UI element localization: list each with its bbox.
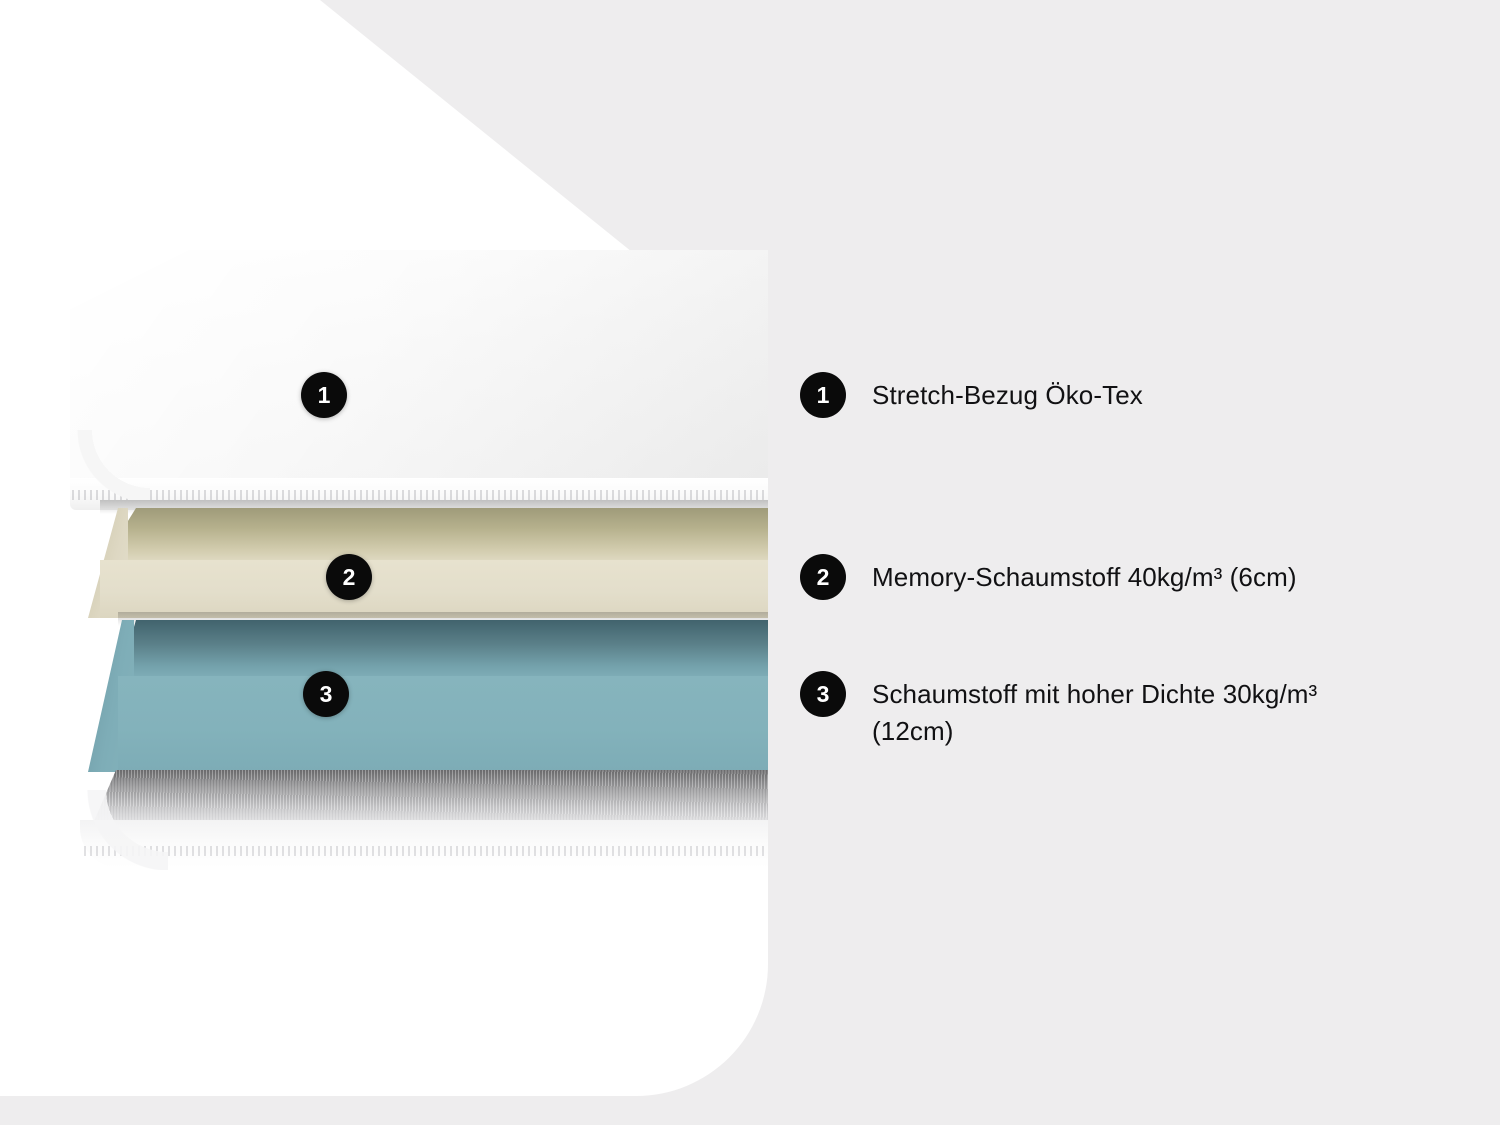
layer-badge-2[interactable]: 2 bbox=[326, 554, 372, 600]
memory-foam-layer-front-face bbox=[100, 560, 768, 618]
high-density-foam-layer-front-face bbox=[118, 676, 768, 772]
high-density-foam-layer-top-surface bbox=[118, 620, 768, 682]
legend-label-2: Memory-Schaumstoff 40kg/m³ (6cm) bbox=[872, 554, 1297, 596]
base-fabric-layer-weave bbox=[92, 770, 768, 826]
legend-label-1: Stretch-Bezug Öko-Tex bbox=[872, 372, 1143, 414]
cover-layer-corner bbox=[70, 430, 150, 510]
legend: 1 Stretch-Bezug Öko-Tex 2 Memory-Schaums… bbox=[800, 0, 1420, 1125]
cover-layer-stitching bbox=[72, 490, 768, 500]
legend-badge-2: 2 bbox=[800, 554, 846, 600]
base-fabric-layer-stitching bbox=[84, 846, 768, 856]
mattress-layer-stack: 1 2 3 bbox=[0, 0, 768, 1125]
base-fabric-layer-front-face bbox=[80, 820, 768, 868]
legend-item-2[interactable]: 2 Memory-Schaumstoff 40kg/m³ (6cm) bbox=[800, 554, 1297, 600]
legend-badge-1: 1 bbox=[800, 372, 846, 418]
legend-badge-3: 3 bbox=[800, 671, 846, 717]
layer-badge-3[interactable]: 3 bbox=[303, 671, 349, 717]
legend-item-3[interactable]: 3 Schaumstoff mit hoher Dichte 30kg/m³ (… bbox=[800, 671, 1372, 750]
legend-item-1[interactable]: 1 Stretch-Bezug Öko-Tex bbox=[800, 372, 1143, 418]
legend-label-3: Schaumstoff mit hoher Dichte 30kg/m³ (12… bbox=[872, 671, 1372, 750]
cover-layer-top-surface bbox=[70, 250, 768, 495]
layer-badge-1[interactable]: 1 bbox=[301, 372, 347, 418]
base-fabric-layer-corner bbox=[78, 790, 168, 870]
diagram-canvas: 1 2 3 1 Stretch-Bezug Öko-Tex 2 Memory-S… bbox=[0, 0, 1500, 1125]
memory-foam-layer-top-surface bbox=[100, 508, 768, 566]
